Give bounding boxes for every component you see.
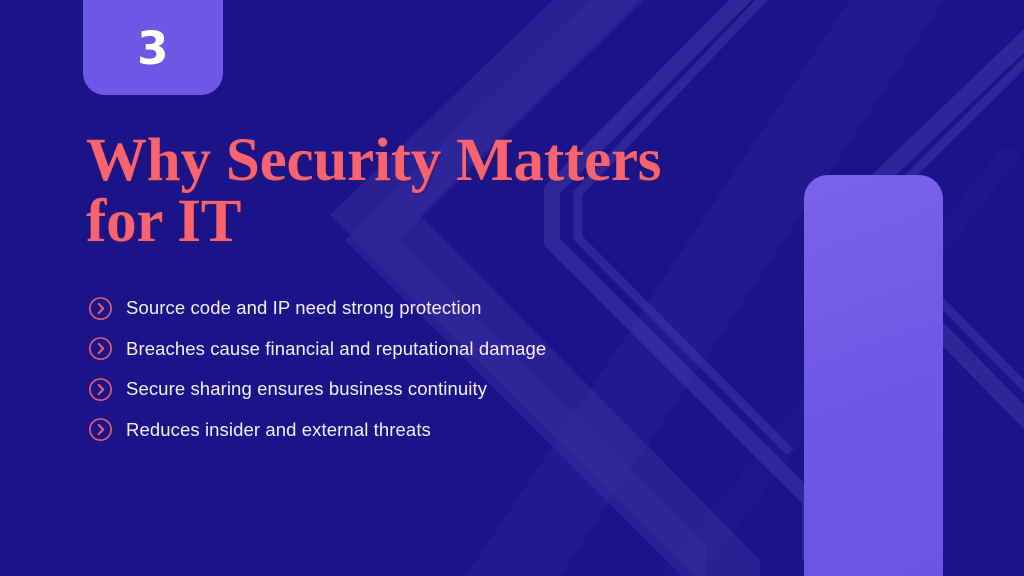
chevron-right-circle-icon: [88, 417, 113, 442]
chevron-outline-large-icon: [552, 0, 810, 560]
page-title: Why Security Matters for IT: [86, 130, 746, 252]
chevron-right-circle-icon: [88, 296, 113, 321]
slide-number-badge: 3: [83, 0, 223, 95]
list-item: Reduces insider and external threats: [88, 410, 788, 451]
list-item-label: Breaches cause financial and reputationa…: [126, 338, 546, 360]
slide-canvas: 3 Why Security Matters for IT Source cod…: [0, 0, 1024, 576]
chevron-right-circle-icon: [88, 336, 113, 361]
chevron-right-circle-icon: [88, 377, 113, 402]
list-item-label: Secure sharing ensures business continui…: [126, 378, 487, 400]
list-item-label: Source code and IP need strong protectio…: [126, 297, 482, 319]
bullet-list: Source code and IP need strong protectio…: [88, 288, 788, 450]
list-item: Source code and IP need strong protectio…: [88, 288, 788, 329]
decorative-side-panel: [804, 175, 943, 576]
list-item: Secure sharing ensures business continui…: [88, 369, 788, 410]
list-item-label: Reduces insider and external threats: [126, 419, 431, 441]
list-item: Breaches cause financial and reputationa…: [88, 329, 788, 370]
slide-number: 3: [137, 20, 169, 71]
